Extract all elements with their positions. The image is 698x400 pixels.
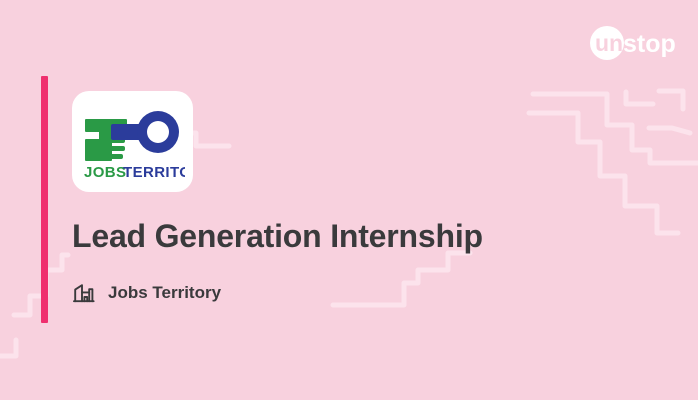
decorative-staircase-pattern [0, 0, 698, 400]
svg-text:JOBS: JOBS [84, 164, 126, 181]
company-building-icon [72, 281, 96, 305]
company-logo-tile: JOBS TERRITORY [72, 91, 193, 192]
company-row[interactable]: Jobs Territory [72, 281, 221, 305]
company-name: Jobs Territory [108, 282, 221, 304]
svg-text:TERRITORY: TERRITORY [123, 164, 185, 181]
svg-text:stop: stop [623, 30, 676, 58]
accent-bar [41, 76, 48, 323]
jobs-territory-logo-icon: JOBS TERRITORY [81, 103, 185, 181]
unstop-logo[interactable]: un stop [590, 26, 676, 60]
job-title: Lead Generation Internship [72, 216, 483, 256]
job-banner: un stop [0, 0, 698, 400]
